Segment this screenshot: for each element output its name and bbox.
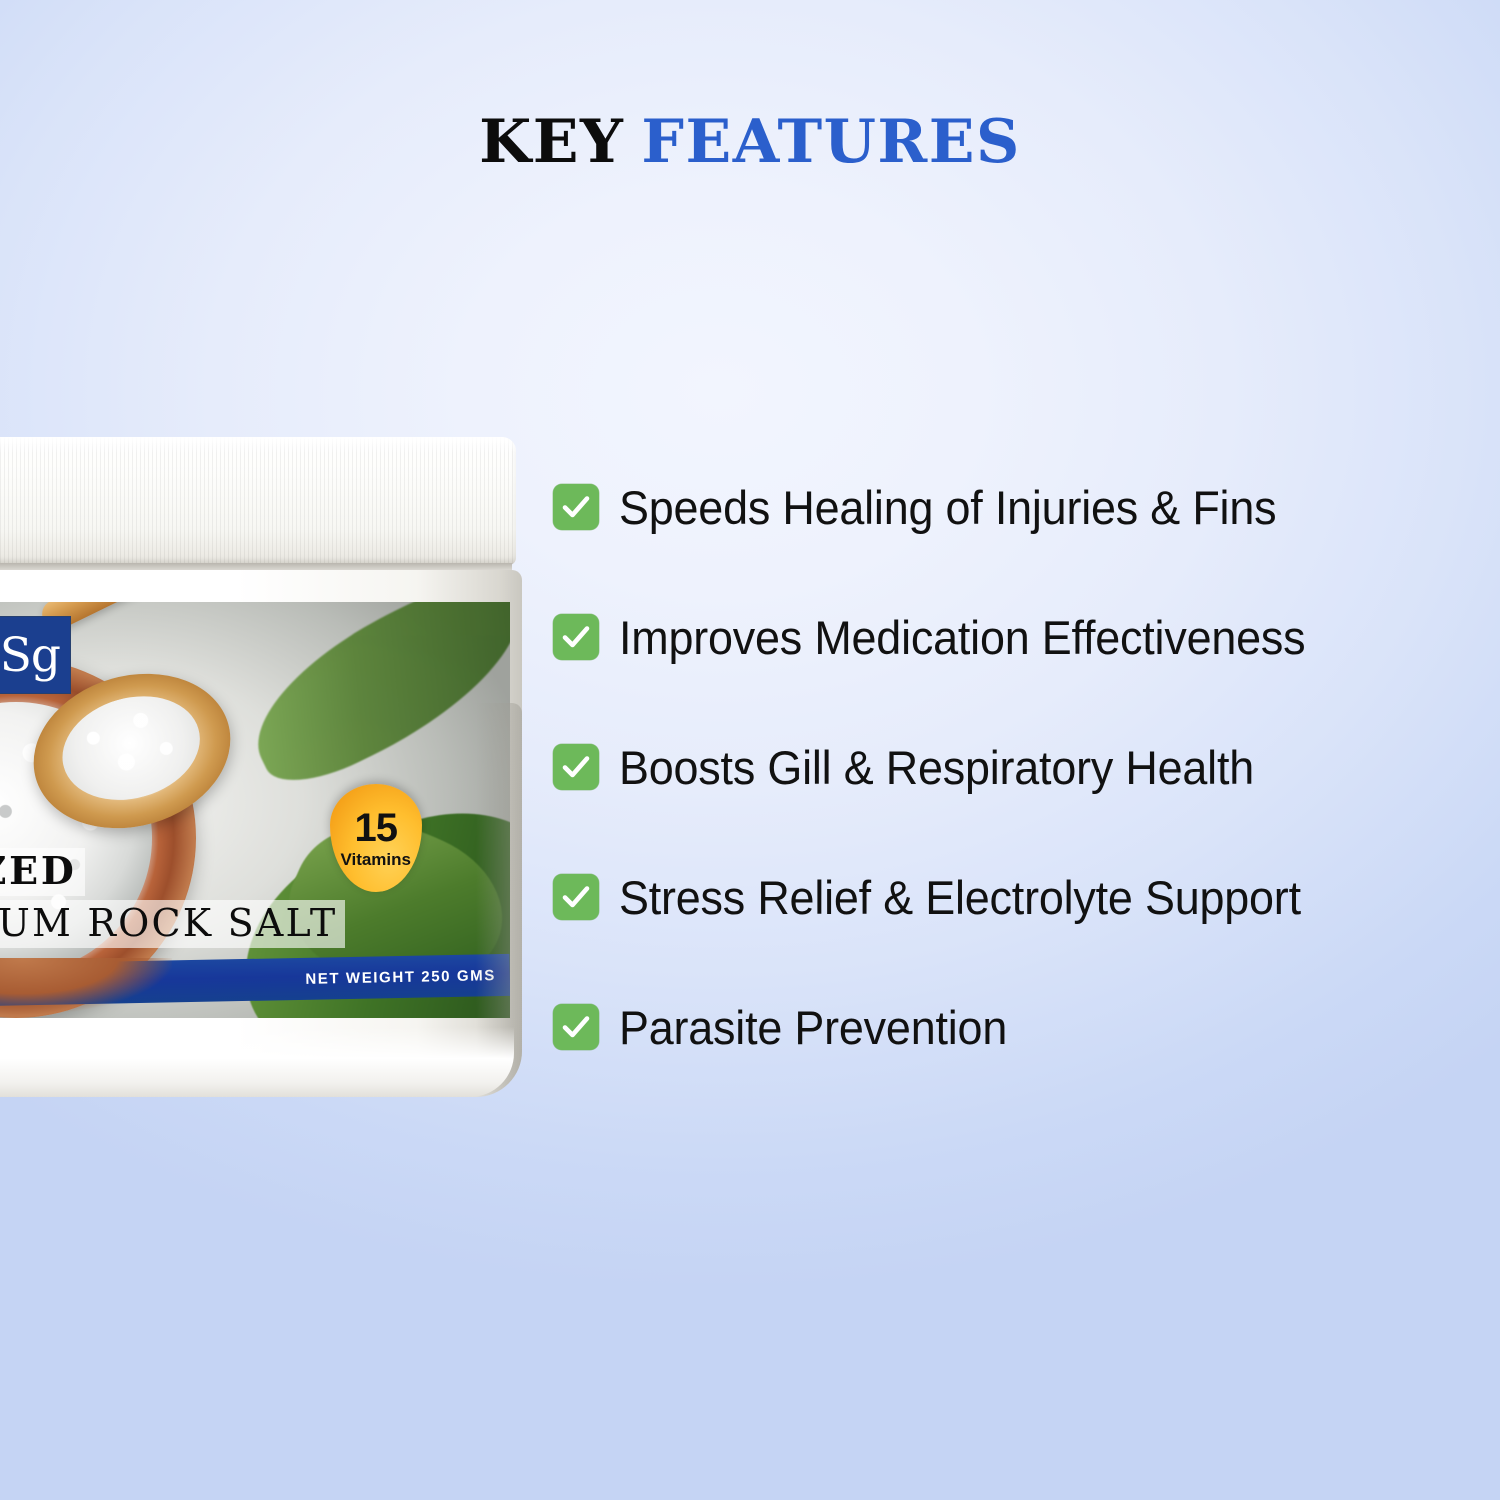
feature-item: Speeds Healing of Injuries & Fins [553,477,1473,537]
vitamins-count: 15 [355,808,398,848]
check-icon [553,1004,599,1050]
spoon-salt-crystals [50,681,212,816]
jar-base [0,1027,514,1097]
check-icon [553,744,599,790]
feature-item: Parasite Prevention [553,997,1473,1057]
feature-list: Speeds Healing of Injuries & Fins Improv… [553,477,1473,1057]
jar-body: JAPANESE NANO TECHNOLOGY SUNKEN GARDEN S… [0,570,522,1097]
feature-label: Boosts Gill & Respiratory Health [619,744,1254,791]
product-name-line-1: VITILIZED [0,848,85,896]
brand-monogram: Sg [0,617,70,693]
net-weight-text: NET WEIGHT 250 GMS [305,967,496,988]
feature-label: Improves Medication Effectiveness [619,614,1305,661]
page-title-key: KEY [479,107,624,177]
feature-label: Speeds Healing of Injuries & Fins [619,484,1276,531]
brand-logo: SUNKEN GARDEN Sg [0,616,71,694]
jar-lid-top-highlight [0,437,516,453]
product-label: JAPANESE NANO TECHNOLOGY SUNKEN GARDEN S… [0,602,510,1018]
page-title: KEYFEATURES [0,112,1500,172]
product-jar: JAPANESE NANO TECHNOLOGY SUNKEN GARDEN S… [0,437,522,1097]
infographic-canvas: KEYFEATURES [0,0,1500,1500]
check-icon [553,614,599,660]
feature-label: Parasite Prevention [619,1004,1007,1051]
brand-monogram-text: Sg [0,632,60,679]
check-icon [553,874,599,920]
feature-item: Improves Medication Effectiveness [553,607,1473,667]
page-title-features: FEATURES [641,107,1021,177]
feature-label: Stress Relief & Electrolyte Support [619,874,1301,921]
jar-lid [0,437,516,565]
product-name: VITILIZED AQUARIUM ROCK SALT [0,848,380,948]
check-icon [553,484,599,530]
feature-item: Stress Relief & Electrolyte Support [553,867,1473,927]
product-name-line-2: AQUARIUM ROCK SALT [0,900,345,948]
feature-item: Boosts Gill & Respiratory Health [553,737,1473,797]
